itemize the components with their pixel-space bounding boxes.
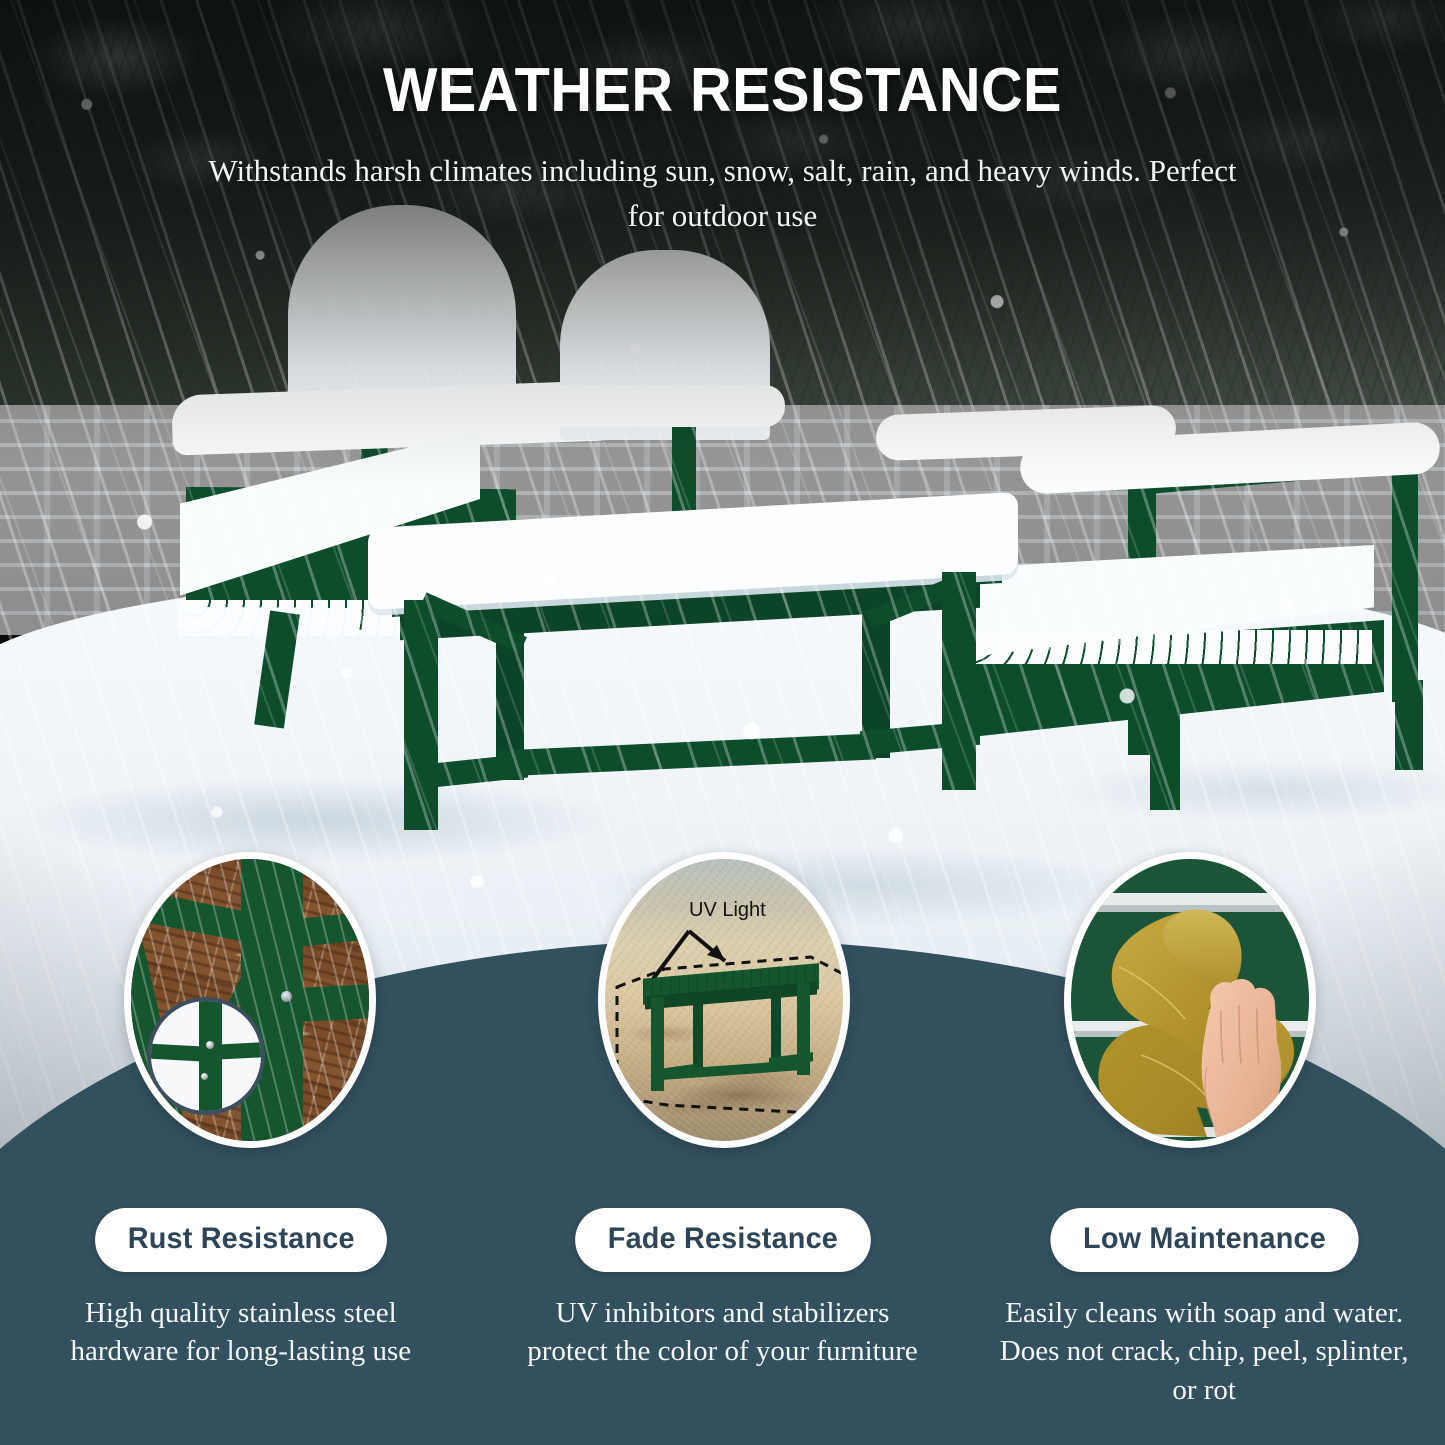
uv-light-label: UV Light	[689, 899, 766, 922]
pill-rust-resistance[interactable]: Rust Resistance	[95, 1208, 387, 1272]
circle-image-rust-resistance	[124, 852, 376, 1148]
description-low-maintenance: Easily cleans with soap and water. Does …	[994, 1294, 1414, 1409]
inset-screw-icon-1	[206, 1041, 214, 1049]
hand-icon	[1191, 971, 1295, 1148]
pill-fade-resistance[interactable]: Fade Resistance	[575, 1208, 870, 1272]
inset-left-rail	[147, 1043, 203, 1061]
magnified-joint-inset	[147, 997, 265, 1115]
table-sand-shadow	[645, 1075, 835, 1115]
feature-cards: Rust Resistance High quality stainless s…	[0, 1208, 1445, 1409]
description-rust-resistance: High quality stainless steel hardware fo…	[41, 1294, 441, 1371]
inset-leg	[199, 997, 222, 1115]
surface-highlight-stripe-1	[1071, 893, 1309, 905]
description-fade-resistance: UV inhibitors and stabilizers protect th…	[513, 1294, 933, 1371]
infographic-canvas: WEATHER RESISTANCE Withstands harsh clim…	[0, 0, 1445, 1445]
inset-right-rail	[219, 1041, 265, 1059]
inset-screw-icon-2	[201, 1073, 208, 1080]
feature-circles: UV Light	[0, 0, 1445, 1190]
circle-image-low-maintenance	[1064, 852, 1316, 1148]
feature-card-fade-resistance: Fade Resistance UV inhibitors and stabil…	[482, 1208, 964, 1409]
circle-image-fade-resistance: UV Light	[598, 852, 850, 1148]
pill-low-maintenance[interactable]: Low Maintenance	[1050, 1208, 1358, 1272]
feature-card-rust-resistance: Rust Resistance High quality stainless s…	[0, 1208, 482, 1409]
feature-card-low-maintenance: Low Maintenance Easily cleans with soap …	[963, 1208, 1445, 1409]
